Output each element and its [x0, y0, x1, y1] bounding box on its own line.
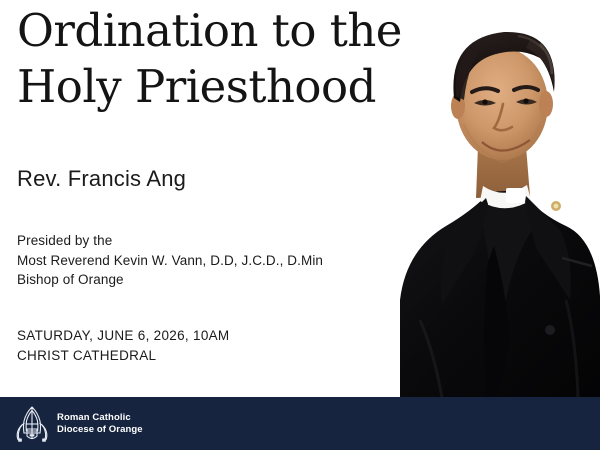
presider-line-3: Bishop of Orange	[17, 270, 323, 290]
lapel-pin-icon	[551, 201, 561, 211]
presider-line-1: Presided by the	[17, 231, 323, 251]
ordinand-name: Rev. Francis Ang	[17, 166, 186, 192]
ordinand-portrait-photo	[390, 0, 600, 398]
title-line-2: Holy Priesthood	[17, 58, 417, 114]
diocese-logo-text: Roman Catholic Diocese of Orange	[57, 412, 143, 435]
ordination-announcement-poster: Ordination to the Holy Priesthood Rev. F…	[0, 0, 600, 450]
diocese-crest-mitre-icon	[14, 404, 50, 444]
poster-title: Ordination to the Holy Priesthood	[17, 0, 417, 114]
title-line-1: Ordination to the	[17, 0, 417, 58]
org-line-2: Diocese of Orange	[57, 424, 143, 436]
presider-line-2: Most Reverend Kevin W. Vann, D.D, J.C.D.…	[17, 251, 323, 271]
event-details: SATURDAY, JUNE 6, 2026, 10AM CHRIST CATH…	[17, 326, 229, 366]
diocese-logo: Roman Catholic Diocese of Orange	[14, 404, 143, 444]
event-datetime: SATURDAY, JUNE 6, 2026, 10AM	[17, 326, 229, 346]
footer-bar: Roman Catholic Diocese of Orange	[0, 397, 600, 450]
event-venue: CHRIST CATHEDRAL	[17, 346, 229, 366]
presider-details: Presided by the Most Reverend Kevin W. V…	[17, 231, 323, 290]
org-line-1: Roman Catholic	[57, 412, 143, 424]
